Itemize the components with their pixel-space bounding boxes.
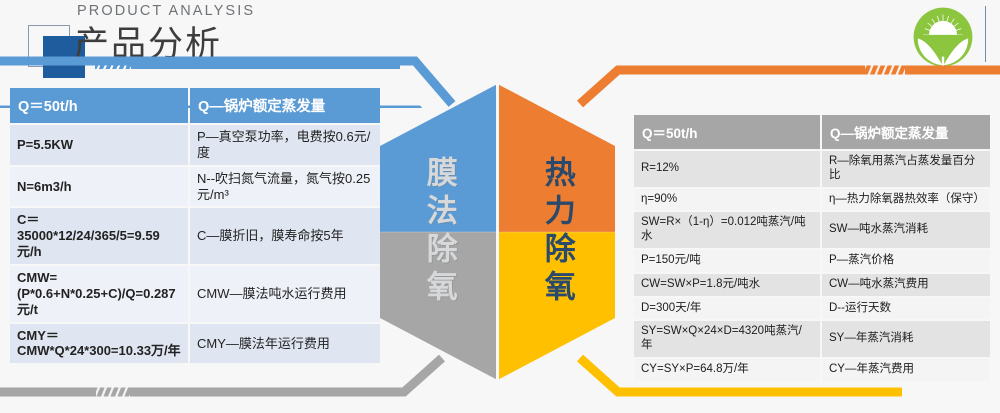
left-cell-0-1: P—真空泵功率，电费按0.6元/度 bbox=[190, 125, 380, 165]
table-row: P=150元/吨 P—蒸汽价格 bbox=[634, 250, 990, 272]
hexagon-diagram: 膜法除氧 热力除氧 bbox=[380, 84, 615, 380]
right-cell-4-0: CW=SW×P=1.8元/吨水 bbox=[634, 274, 820, 296]
connector-line-orange bbox=[560, 56, 1000, 116]
table-row: CY=SY×P=64.8万/年 CY—年蒸汽费用 bbox=[634, 359, 990, 381]
table-row: P=5.5KW P—真空泵功率，电费按0.6元/度 bbox=[10, 125, 380, 165]
hex-segment-bottom-right bbox=[498, 232, 616, 380]
left-cell-0-0: P=5.5KW bbox=[10, 125, 188, 165]
table-header-row: Q＝50t/h Q—锅炉额定蒸发量 bbox=[10, 88, 380, 123]
left-cell-2-1: C—膜折旧，膜寿命按5年 bbox=[190, 208, 380, 264]
right-cell-6-1: SY—年蒸汽消耗 bbox=[822, 321, 990, 357]
table-row: CMY＝CMW*Q*24*300=10.33万/年 CMY—膜法年运行费用 bbox=[10, 324, 380, 364]
table-row: N=6m3/h N--吹扫氮气流量，氮气按0.25元/m³ bbox=[10, 167, 380, 207]
left-cell-1-0: N=6m3/h bbox=[10, 167, 188, 207]
left-cell-3-1: CMW—膜法吨水运行费用 bbox=[190, 266, 380, 322]
left-cell-4-1: CMY—膜法年运行费用 bbox=[190, 324, 380, 364]
table-row: SY=SW×Q×24×D=4320吨蒸汽/年 SY—年蒸汽消耗 bbox=[634, 321, 990, 357]
membrane-deoxygenation-table: Q＝50t/h Q—锅炉额定蒸发量 P=5.5KW P—真空泵功率，电费按0.6… bbox=[8, 86, 382, 365]
left-cell-1-1: N--吹扫氮气流量，氮气按0.25元/m³ bbox=[190, 167, 380, 207]
left-cell-4-0: CMY＝CMW*Q*24*300=10.33万/年 bbox=[10, 324, 188, 364]
thermal-deoxygenation-table: Q＝50t/h Q—锅炉额定蒸发量 R=12% R—除氧用蒸汽占蒸发量百分比 η… bbox=[632, 113, 992, 383]
table-row: R=12% R—除氧用蒸汽占蒸发量百分比 bbox=[634, 151, 990, 187]
left-table-header-1: Q—锅炉额定蒸发量 bbox=[190, 88, 380, 123]
table-header-row: Q＝50t/h Q—锅炉额定蒸发量 bbox=[634, 115, 990, 149]
left-cell-3-0: CMW=(P*0.6+N*0.25+C)/Q=0.287元/t bbox=[10, 266, 188, 322]
right-cell-1-1: η—热力除氧器热效率（保守） bbox=[822, 189, 990, 211]
right-cell-2-1: SW—吨水蒸汽消耗 bbox=[822, 212, 990, 248]
right-cell-4-1: CW—吨水蒸汽费用 bbox=[822, 274, 990, 296]
table-row: SW=R×（1-η）=0.012吨蒸汽/吨水 SW—吨水蒸汽消耗 bbox=[634, 212, 990, 248]
table-row: CW=SW×P=1.8元/吨水 CW—吨水蒸汽费用 bbox=[634, 274, 990, 296]
hex-segment-top-left bbox=[380, 84, 498, 232]
right-cell-0-1: R—除氧用蒸汽占蒸发量百分比 bbox=[822, 151, 990, 187]
right-table-header-1: Q—锅炉额定蒸发量 bbox=[822, 115, 990, 149]
slide-canvas: PRODUCT ANALYSIS 产品分析 bbox=[0, 0, 1000, 413]
right-cell-0-0: R=12% bbox=[634, 151, 820, 187]
right-cell-5-1: D--运行天数 bbox=[822, 298, 990, 320]
table-row: CMW=(P*0.6+N*0.25+C)/Q=0.287元/t CMW—膜法吨水… bbox=[10, 266, 380, 322]
right-cell-7-1: CY—年蒸汽费用 bbox=[822, 359, 990, 381]
right-cell-2-0: SW=R×（1-η）=0.012吨蒸汽/吨水 bbox=[634, 212, 820, 248]
left-table-header-0: Q＝50t/h bbox=[10, 88, 188, 123]
right-cell-5-0: D=300天/年 bbox=[634, 298, 820, 320]
right-cell-6-0: SY=SW×Q×24×D=4320吨蒸汽/年 bbox=[634, 321, 820, 357]
table-row: η=90% η—热力除氧器热效率（保守） bbox=[634, 189, 990, 211]
right-cell-3-0: P=150元/吨 bbox=[634, 250, 820, 272]
right-cell-7-0: CY=SY×P=64.8万/年 bbox=[634, 359, 820, 381]
right-cell-1-0: η=90% bbox=[634, 189, 820, 211]
left-cell-2-0: C＝35000*12/24/365/5=9.59元/h bbox=[10, 208, 188, 264]
right-cell-3-1: P—蒸汽价格 bbox=[822, 250, 990, 272]
hex-segment-bottom-left bbox=[380, 232, 498, 380]
right-table-header-0: Q＝50t/h bbox=[634, 115, 820, 149]
table-row: D=300天/年 D--运行天数 bbox=[634, 298, 990, 320]
hex-segment-top-right bbox=[498, 84, 616, 232]
brand-divider bbox=[985, 6, 987, 62]
table-row: C＝35000*12/24/365/5=9.59元/h C—膜折旧，膜寿命按5年 bbox=[10, 208, 380, 264]
